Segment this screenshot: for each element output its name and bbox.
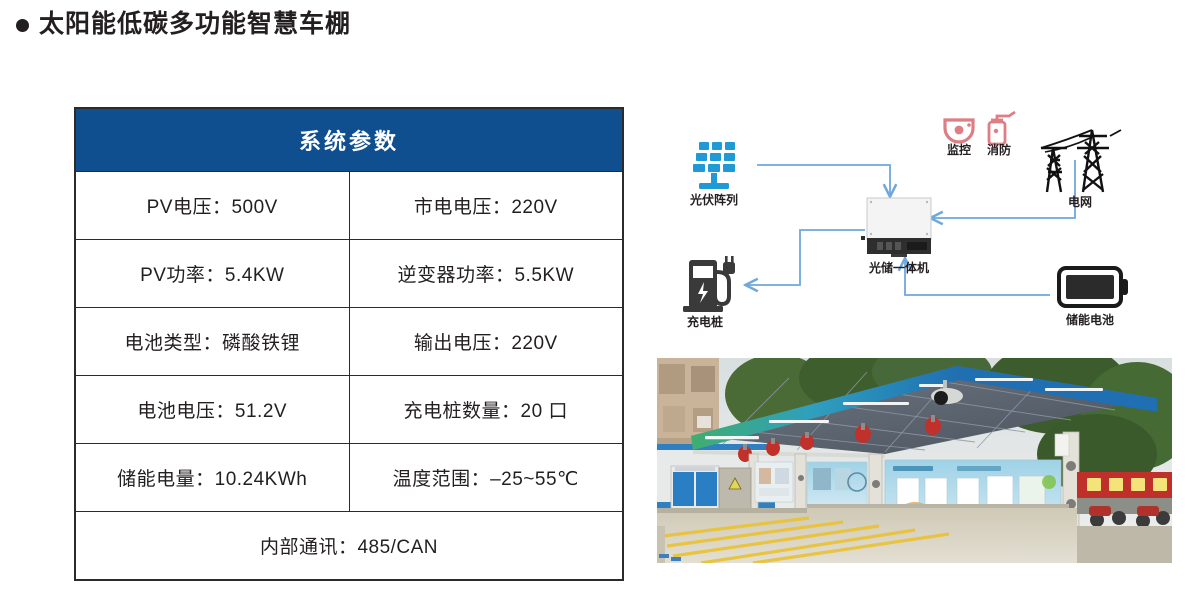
fire-extinguisher-icon [989, 112, 1015, 144]
table-row: 电池类型：磷酸铁锂 输出电压：220V [75, 308, 623, 376]
table-row: 电池电压：51.2V 充电桩数量：20 口 [75, 376, 623, 444]
diagram-node-monitoring: 监控 [945, 120, 973, 157]
table-cell-storage-capacity: 储能电量：10.24KWh [75, 444, 349, 512]
page-title: 太阳能低碳多功能智慧车棚 [16, 12, 351, 37]
table-cell-pv-power: PV功率：5.4KW [75, 240, 349, 308]
diagram-node-inverter: 光储一体机 [861, 198, 931, 275]
diagram-label-grid: 电网 [1068, 194, 1092, 209]
power-tower-icon [1041, 130, 1121, 192]
table-cell-inverter-power: 逆变器功率：5.5KW [349, 240, 623, 308]
photo-right-area [1077, 472, 1172, 563]
table-cell-mains-voltage: 市电电压：220V [349, 172, 623, 240]
diagram-node-pv-array: 光伏阵列 [689, 142, 738, 207]
table-cell-charger-count: 充电桩数量：20 口 [349, 376, 623, 444]
hybrid-inverter-icon [861, 198, 931, 257]
diagram-node-charger: 充电桩 [683, 256, 735, 329]
table-header-row: 系统参数 [75, 108, 623, 172]
table-cell-temperature-range: 温度范围：–25~55℃ [349, 444, 623, 512]
ev-charging-pile-icon [683, 256, 735, 312]
diagram-label-battery: 储能电池 [1066, 312, 1114, 327]
table-header-cell: 系统参数 [75, 108, 623, 172]
site-photo [657, 358, 1172, 563]
diagram-label-pv-array: 光伏阵列 [689, 192, 738, 207]
table-cell-battery-voltage: 电池电压：51.2V [75, 376, 349, 444]
diagram-label-charger: 充电桩 [687, 314, 723, 329]
system-parameters-table: 系统参数 PV电压：500V 市电电压：220V PV功率：5.4KW 逆变器功… [74, 107, 624, 581]
solar-panel-icon [693, 142, 735, 189]
diagram-label-fire: 消防 [987, 142, 1011, 157]
table-cell-pv-voltage: PV电压：500V [75, 172, 349, 240]
diagram-node-battery: 储能电池 [1059, 268, 1128, 327]
cctv-camera-icon [945, 120, 973, 142]
diagram-label-inverter: 光储一体机 [868, 260, 929, 275]
table-row: PV功率：5.4KW 逆变器功率：5.5KW [75, 240, 623, 308]
filled-circle-bullet-icon [16, 19, 29, 32]
table-row: PV电压：500V 市电电压：220V [75, 172, 623, 240]
diagram-node-grid: 电网 [1041, 130, 1121, 209]
table-row: 储能电量：10.24KWh 温度范围：–25~55℃ [75, 444, 623, 512]
battery-icon [1059, 268, 1128, 306]
table-row: 内部通讯：485/CAN [75, 512, 623, 581]
system-flow-diagram: 光伏阵列 监控 消防 [655, 100, 1185, 350]
diagram-label-monitoring: 监控 [947, 142, 971, 157]
table-cell-battery-type: 电池类型：磷酸铁锂 [75, 308, 349, 376]
table-cell-output-voltage: 输出电压：220V [349, 308, 623, 376]
table-cell-internal-comms: 内部通讯：485/CAN [75, 512, 623, 581]
page-title-text: 太阳能低碳多功能智慧车棚 [39, 12, 351, 37]
diagram-node-fire: 消防 [987, 112, 1015, 157]
photo-electrical-cabinets [671, 466, 751, 513]
